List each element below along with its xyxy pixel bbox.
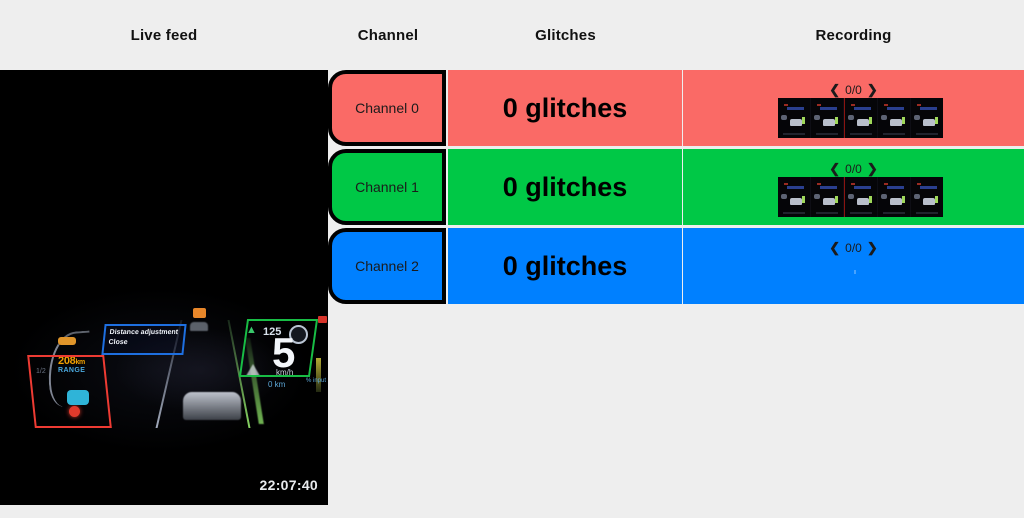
trip-distance-value: 0 km <box>268 380 285 389</box>
table-row: Channel 2 0 glitches ❮0/0❯ <box>328 228 1024 304</box>
prev-recording-button[interactable]: ❮ <box>826 240 843 255</box>
header-channel: Channel <box>328 0 448 70</box>
prev-recording-button[interactable]: ❮ <box>826 161 843 176</box>
column-header-bar: Live feed Channel Glitches Recording <box>0 0 1024 70</box>
recording-cell-1: ❮0/0❯ <box>683 149 1024 225</box>
header-live-feed: Live feed <box>0 0 328 70</box>
video-timestamp: 22:07:40 <box>260 477 318 493</box>
filmstrip-frame[interactable] <box>878 98 911 138</box>
channel-button-2[interactable]: Channel 2 <box>328 228 446 304</box>
recording-counter: 0/0 <box>843 241 864 255</box>
channel-table: Channel 0 0 glitches ❮0/0❯ Channel 1 0 g… <box>328 70 1024 308</box>
channel-button-label: Channel 0 <box>355 100 419 116</box>
recording-cell-0: ❮0/0❯ <box>683 70 1024 146</box>
live-feed-video[interactable]: 1/2 208km RANGE ▲ 125 5 km/h 0 km % inpu… <box>0 70 328 505</box>
channel-button-1[interactable]: Channel 1 <box>328 149 446 225</box>
filmstrip-frame-current[interactable] <box>844 98 878 138</box>
annotation-box-red <box>27 355 112 428</box>
recording-counter: 0/0 <box>843 83 864 97</box>
filmstrip-frame[interactable] <box>911 177 943 217</box>
next-recording-button[interactable]: ❯ <box>864 161 881 176</box>
channel-button-0[interactable]: Channel 0 <box>328 70 446 146</box>
filmstrip-frame[interactable] <box>911 98 943 138</box>
distant-vehicle <box>190 322 208 331</box>
lead-vehicle <box>183 392 241 420</box>
filmstrip-frame-current[interactable] <box>844 177 878 217</box>
recording-nav-1: ❮0/0❯ <box>683 161 1024 177</box>
filmstrip-frame[interactable] <box>778 177 811 217</box>
annotation-label-blue: Distance adjustment Close <box>108 328 188 348</box>
recording-filmstrip-0[interactable] <box>778 98 943 138</box>
header-recording: Recording <box>683 0 1024 70</box>
filmstrip-frame[interactable] <box>811 98 844 138</box>
prev-recording-button[interactable]: ❮ <box>826 82 843 97</box>
warning-icon <box>193 308 206 318</box>
recording-empty-placeholder <box>854 270 856 274</box>
recording-cell-2: ❮0/0❯ <box>683 228 1024 304</box>
filmstrip-frame[interactable] <box>878 177 911 217</box>
filmstrip-frame[interactable] <box>811 177 844 217</box>
recording-filmstrip-1[interactable] <box>778 177 943 217</box>
input-level-bar <box>316 358 321 392</box>
recording-nav-0: ❮0/0❯ <box>683 82 1024 98</box>
glitch-count-0: 0 glitches <box>448 70 682 146</box>
annotation-box-green <box>239 319 318 377</box>
next-recording-button[interactable]: ❯ <box>864 82 881 97</box>
recording-counter: 0/0 <box>843 162 864 176</box>
channel-button-label: Channel 2 <box>355 258 419 274</box>
channel-button-label: Channel 1 <box>355 179 419 195</box>
glitch-count-1: 0 glitches <box>448 149 682 225</box>
recording-nav-2: ❮0/0❯ <box>683 240 1024 256</box>
table-row: Channel 1 0 glitches ❮0/0❯ <box>328 149 1024 225</box>
alert-indicator <box>318 316 327 323</box>
input-level-label: % input <box>306 378 326 384</box>
glitch-count-2: 0 glitches <box>448 228 682 304</box>
dashboard-scene: 1/2 208km RANGE ▲ 125 5 km/h 0 km % inpu… <box>0 70 328 505</box>
header-glitches: Glitches <box>448 0 683 70</box>
table-row: Channel 0 0 glitches ❮0/0❯ <box>328 70 1024 146</box>
filmstrip-frame[interactable] <box>778 98 811 138</box>
vehicle-icon <box>58 337 76 345</box>
next-recording-button[interactable]: ❯ <box>864 240 881 255</box>
